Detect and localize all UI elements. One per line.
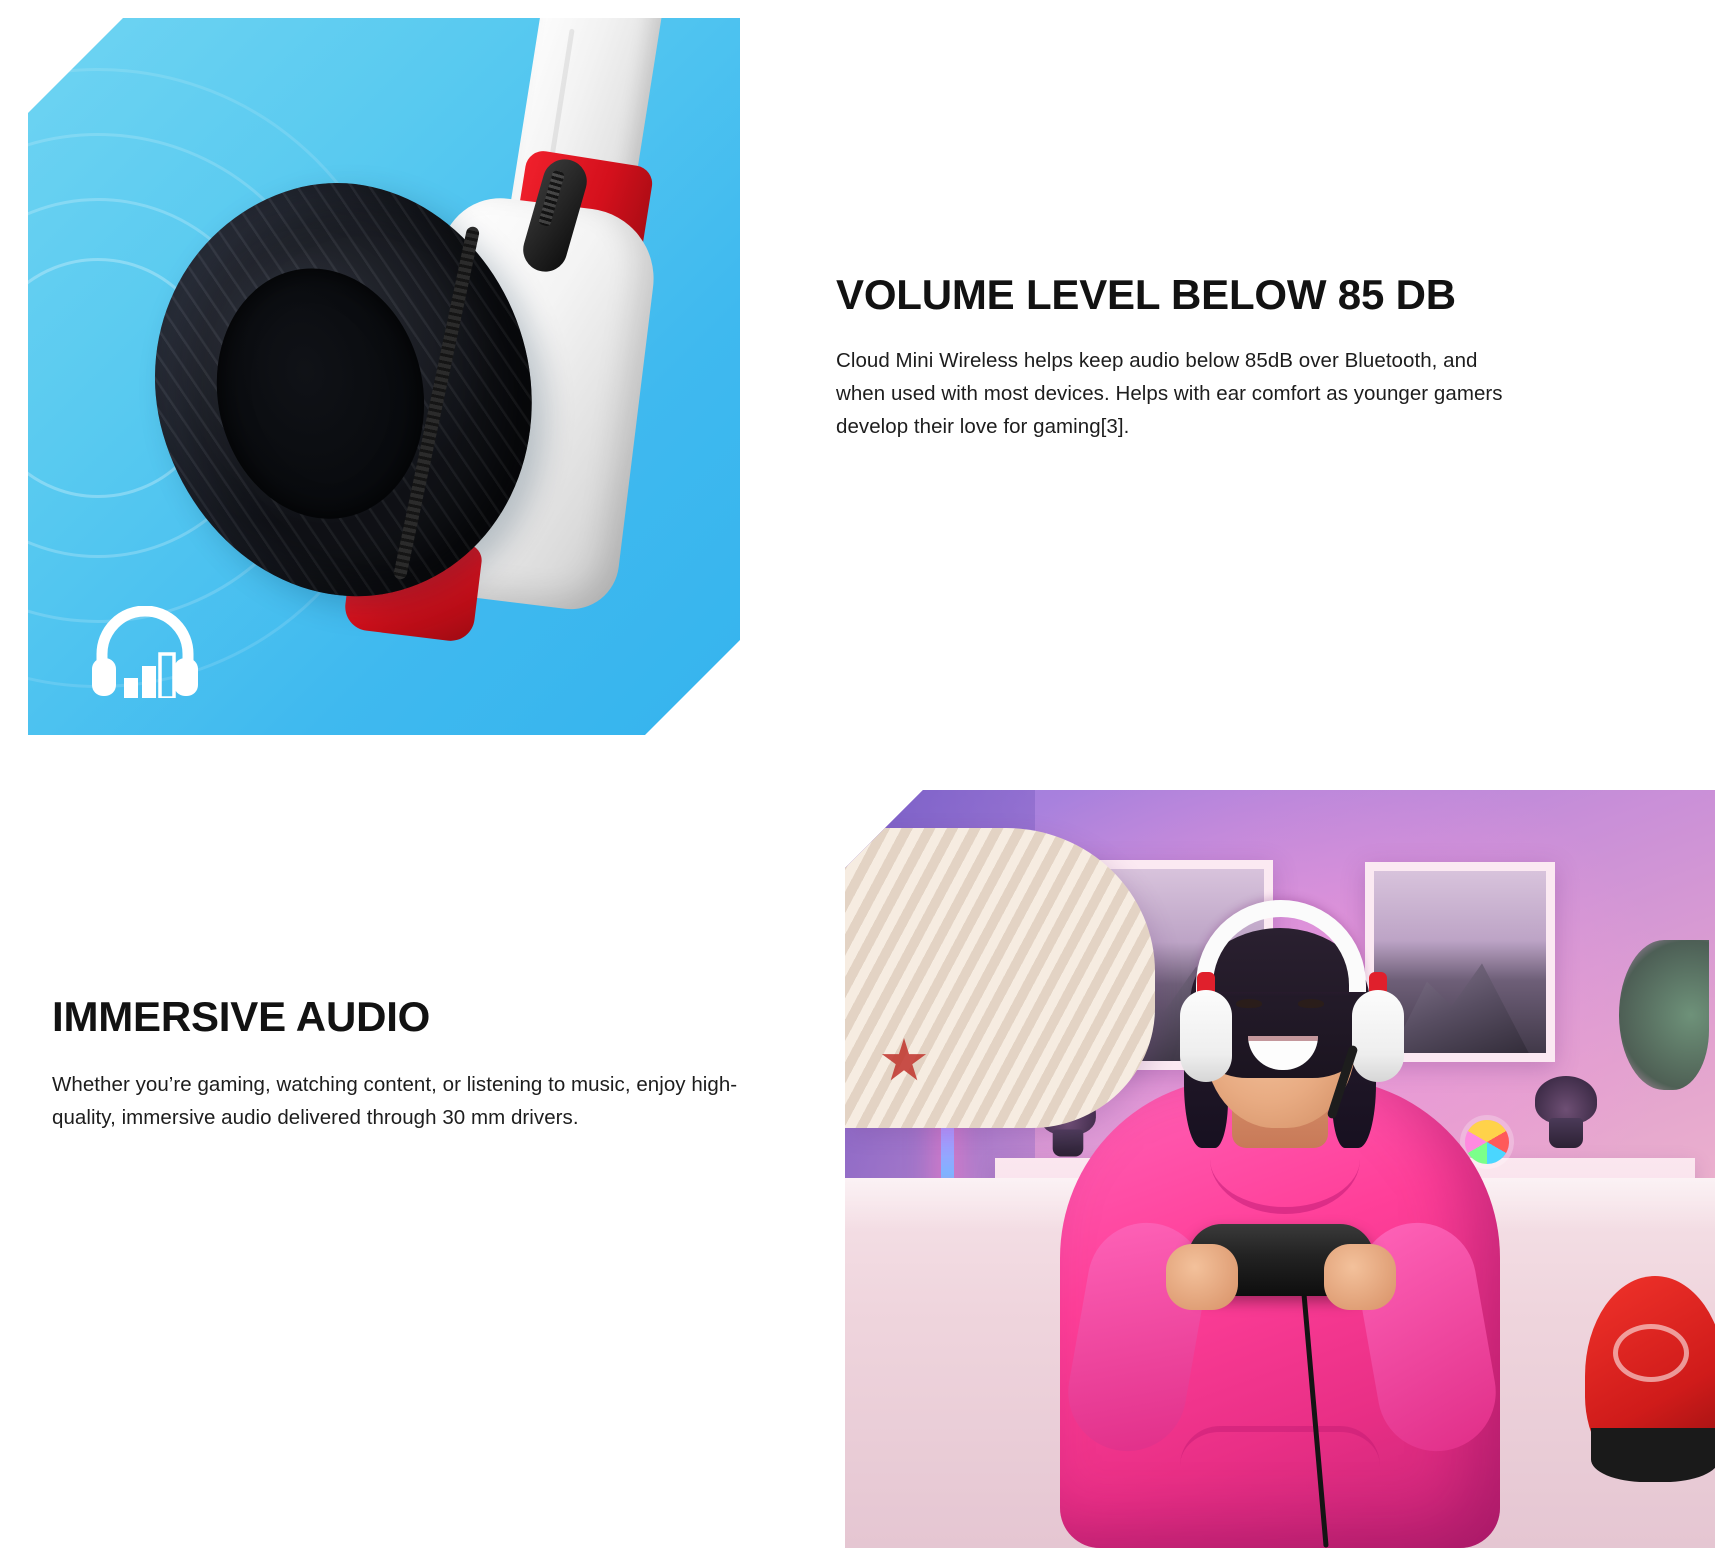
plush-face bbox=[1613, 1324, 1689, 1382]
potted-plant bbox=[1535, 1078, 1597, 1148]
young-gamer-lifestyle-image bbox=[845, 790, 1715, 1548]
feature-page: VOLUME LEVEL BELOW 85 DB Cloud Mini Wire… bbox=[0, 0, 1715, 1548]
headphones-volume-icon bbox=[90, 606, 200, 698]
gamer-hand-left bbox=[1166, 1244, 1238, 1310]
gamer-hand-right bbox=[1324, 1244, 1396, 1310]
worn-headset-earcup-right bbox=[1352, 990, 1404, 1082]
gamer-eye-left bbox=[1236, 999, 1262, 1008]
feature-volume-level-text: VOLUME LEVEL BELOW 85 DB Cloud Mini Wire… bbox=[836, 268, 1526, 443]
hoodie-pocket bbox=[1180, 1426, 1380, 1508]
plant-leaves bbox=[1535, 1076, 1597, 1124]
feature-body-immersive-audio: Whether you’re gaming, watching content,… bbox=[52, 1068, 752, 1134]
headset-earcup-closeup-image bbox=[28, 18, 740, 735]
gamer-eye-right bbox=[1298, 999, 1324, 1008]
plush-base bbox=[1591, 1428, 1715, 1482]
fern-plant bbox=[1619, 940, 1709, 1090]
plant-pot bbox=[1549, 1118, 1583, 1148]
mic-grille bbox=[538, 170, 565, 227]
feature-immersive-audio-text: IMMERSIVE AUDIO Whether you’re gaming, w… bbox=[52, 990, 752, 1134]
feature-heading-immersive-audio: IMMERSIVE AUDIO bbox=[52, 990, 752, 1044]
young-gamer bbox=[1020, 848, 1540, 1548]
worn-headset-earcup-left bbox=[1180, 990, 1232, 1082]
feature-heading-volume-level: VOLUME LEVEL BELOW 85 DB bbox=[836, 268, 1526, 322]
worn-headset-band bbox=[1196, 900, 1366, 992]
red-plush-toy bbox=[1585, 1276, 1715, 1476]
feature-body-volume-level: Cloud Mini Wireless helps keep audio bel… bbox=[836, 344, 1526, 444]
